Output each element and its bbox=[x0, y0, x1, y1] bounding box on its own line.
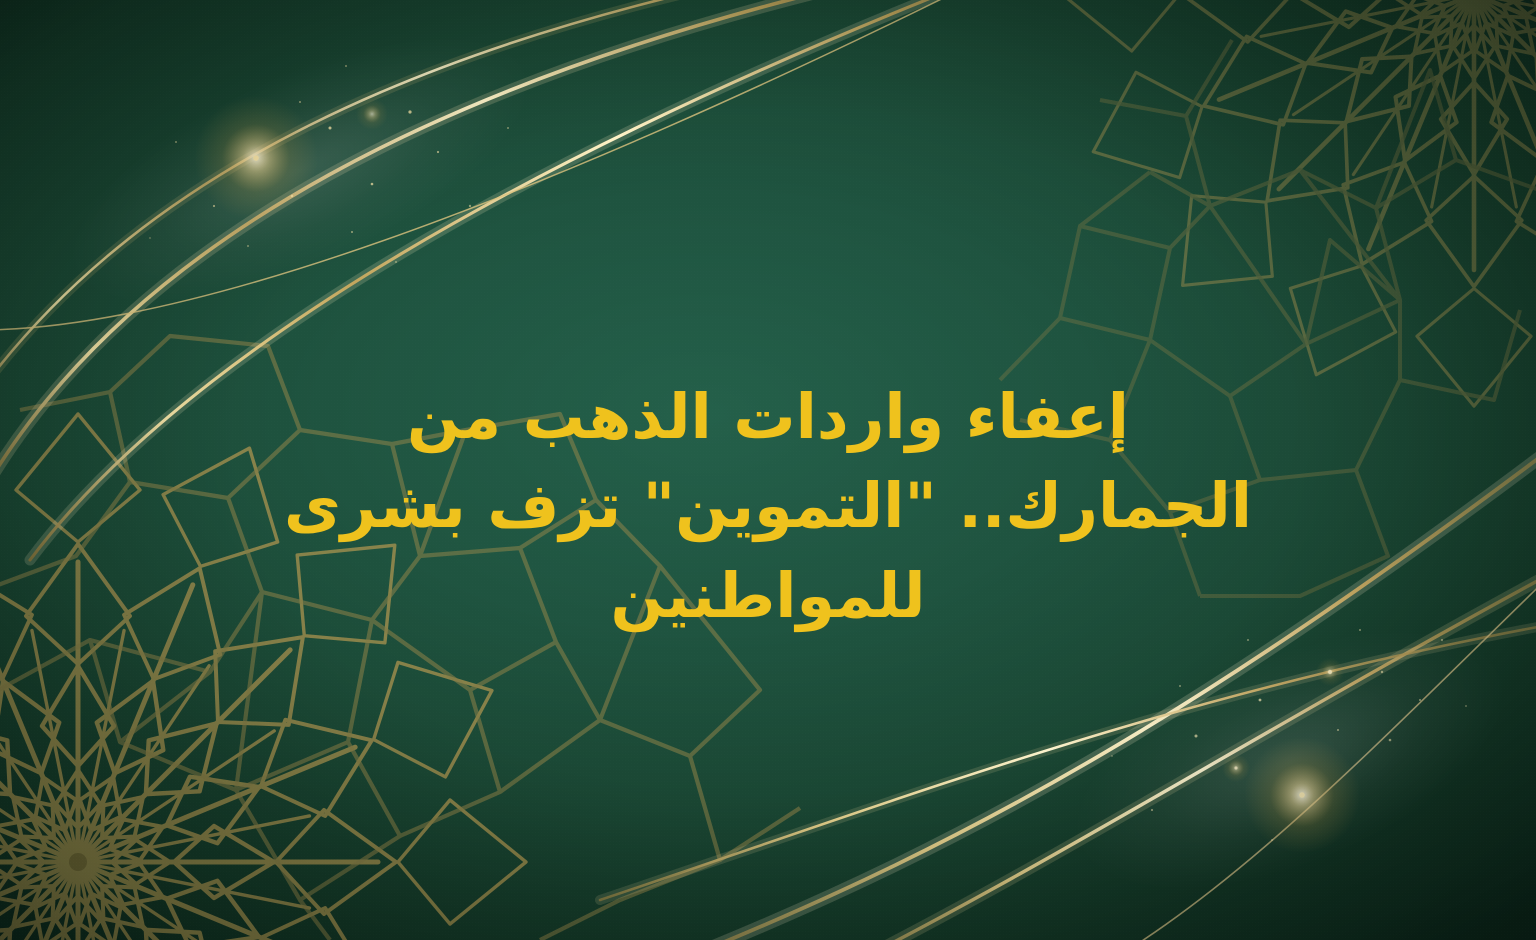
headline-line-3: للمواطنين bbox=[120, 551, 1416, 640]
headline-line-1: إعفاء واردات الذهب من bbox=[120, 372, 1416, 461]
headline-line-2: الجمارك.. "التموين" تزف بشرى bbox=[120, 461, 1416, 550]
headline-block: إعفاء واردات الذهب من الجمارك.. "التموين… bbox=[0, 372, 1536, 640]
banner-canvas: إعفاء واردات الذهب من الجمارك.. "التموين… bbox=[0, 0, 1536, 940]
headline-text: إعفاء واردات الذهب من الجمارك.. "التموين… bbox=[120, 372, 1416, 640]
sparkle-burst-top-left bbox=[33, 0, 567, 358]
